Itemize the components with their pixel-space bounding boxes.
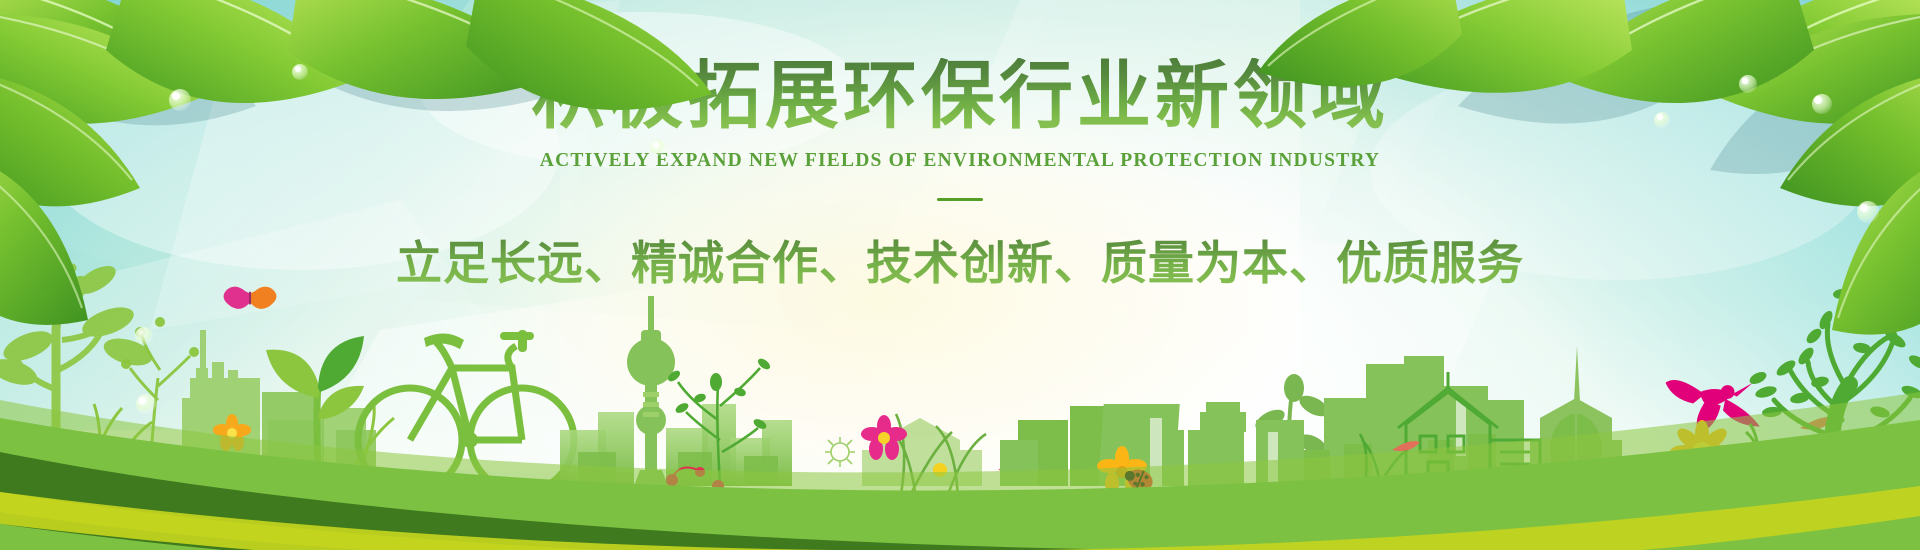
- water-drop-icon: [136, 394, 156, 414]
- eco-banner: 积极拓展环保行业新领域 ACTIVELY EXPAND NEW FIELDS O…: [0, 0, 1920, 550]
- leaf-overlay: [0, 0, 1920, 550]
- leaf-cluster-icon: [1258, 0, 1920, 335]
- leaf-cluster-icon: [0, 0, 712, 414]
